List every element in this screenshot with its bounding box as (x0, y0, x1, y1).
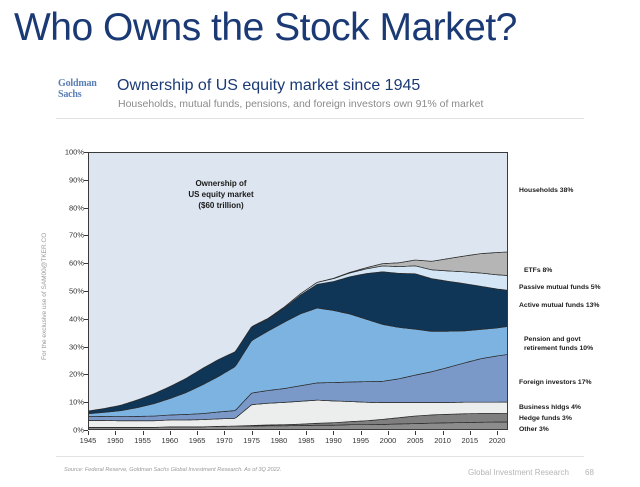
footer-divider (56, 456, 584, 457)
y-axis-tick-label: 90% (54, 175, 84, 184)
x-axis-tick-mark (170, 431, 171, 435)
x-axis-tick-label: 1995 (352, 436, 369, 445)
callout-line-2: US equity market (158, 189, 284, 200)
x-axis-tick-mark (497, 431, 498, 435)
x-axis-tick-mark (279, 431, 280, 435)
x-axis-tick-label: 1945 (80, 436, 97, 445)
x-axis-tick-label: 2005 (407, 436, 424, 445)
y-axis-tick-label: 0% (54, 426, 84, 435)
y-axis-tick-label: 20% (54, 370, 84, 379)
series-label-other: Other 3% (519, 425, 549, 434)
series-label-pension-and-govt-retirement-funds: Pension and govtretirement funds 10% (524, 335, 593, 353)
watermark: For the exclusive use of SAM00@TKER.CO (30, 200, 44, 360)
x-axis-tick-label: 1980 (271, 436, 288, 445)
series-label-line: retirement funds 10% (524, 344, 593, 353)
x-axis-tick-label: 2020 (489, 436, 506, 445)
header-divider (56, 118, 584, 119)
x-axis-tick-label: 1960 (161, 436, 178, 445)
chart-callout: Ownership of US equity market ($60 trill… (158, 178, 284, 211)
goldman-sachs-logo: Goldman Sachs (58, 79, 110, 100)
series-label-active-mutual-funds: Active mutual funds 13% (519, 301, 599, 310)
x-axis-tick-label: 1965 (189, 436, 206, 445)
logo-line-2: Sachs (58, 90, 110, 101)
y-axis-tick-label: 80% (54, 203, 84, 212)
watermark-text: For the exclusive use of SAM00@TKER.CO (41, 233, 48, 360)
series-label-foreign-investors: Foreign investors 17% (519, 378, 592, 387)
x-axis-tick-mark (361, 431, 362, 435)
chart-subtitle: Households, mutual funds, pensions, and … (118, 98, 483, 110)
source-note: Source: Federal Reserve, Goldman Sachs G… (64, 467, 281, 473)
y-axis: 0%10%20%30%40%50%60%70%80%90%100% (52, 152, 84, 430)
x-axis-tick-mark (306, 431, 307, 435)
series-label-passive-mutual-funds: Passive mutual funds 5% (519, 283, 601, 292)
x-axis-tick-mark (388, 431, 389, 435)
x-axis-tick-label: 1950 (107, 436, 124, 445)
x-axis-tick-label: 2010 (434, 436, 451, 445)
series-label-business-hldgs: Business hldgs 4% (519, 403, 581, 412)
y-axis-tick-label: 10% (54, 398, 84, 407)
x-axis-tick-mark (143, 431, 144, 435)
logo-line-1: Goldman (58, 79, 110, 90)
y-axis-tick-label: 70% (54, 231, 84, 240)
x-axis-tick-mark (224, 431, 225, 435)
callout-line-1: Ownership of (158, 178, 284, 189)
x-axis-tick-label: 1955 (134, 436, 151, 445)
y-axis-tick-label: 100% (54, 148, 84, 157)
x-axis-tick-mark (470, 431, 471, 435)
x-axis-tick-mark (115, 431, 116, 435)
series-label-etfs: ETFs 8% (524, 266, 552, 275)
page-title: Who Owns the Stock Market? (14, 6, 517, 50)
series-label-line: Pension and govt (524, 335, 593, 344)
x-axis-tick-mark (415, 431, 416, 435)
x-axis-tick-mark (88, 431, 89, 435)
callout-line-3: ($60 trillion) (158, 200, 284, 211)
x-axis-tick-label: 1985 (298, 436, 315, 445)
x-axis-tick-mark (252, 431, 253, 435)
x-axis-tick-mark (443, 431, 444, 435)
y-axis-tick-label: 50% (54, 287, 84, 296)
chart-title: Ownership of US equity market since 1945 (117, 77, 420, 95)
x-axis-tick-label: 2015 (461, 436, 478, 445)
y-axis-tick-label: 40% (54, 314, 84, 323)
page-number: 68 (585, 468, 594, 477)
y-axis-tick-label: 30% (54, 342, 84, 351)
x-axis-tick-mark (333, 431, 334, 435)
plot-border (88, 152, 508, 430)
y-axis-tick-label: 60% (54, 259, 84, 268)
x-axis-tick-label: 1970 (216, 436, 233, 445)
x-axis-tick-label: 1990 (325, 436, 342, 445)
x-axis-tick-label: 2000 (380, 436, 397, 445)
chart-plot-area (88, 152, 508, 430)
slide-root: Who Owns the Stock Market? Goldman Sachs… (0, 0, 640, 487)
x-axis-tick-label: 1975 (243, 436, 260, 445)
x-axis: 1945195019551960196519701975198019851990… (88, 431, 508, 447)
series-label-households: Households 38% (519, 186, 573, 195)
footer-label: Global Investment Research (468, 468, 569, 477)
series-label-hedge-funds: Hedge funds 3% (519, 414, 572, 423)
x-axis-tick-mark (197, 431, 198, 435)
